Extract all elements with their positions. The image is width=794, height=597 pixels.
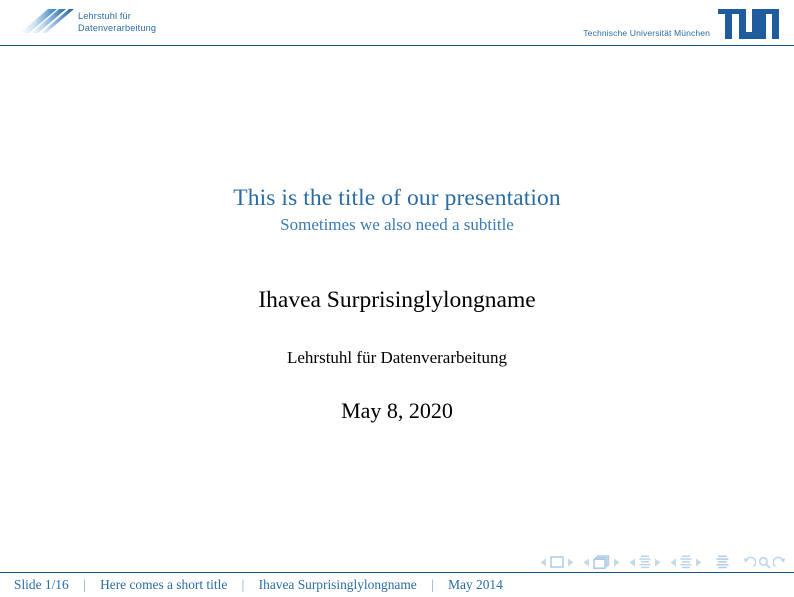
presentation-title: This is the title of our presentation	[0, 185, 794, 212]
section-prev-arrow-icon[interactable]	[670, 558, 677, 567]
ldv-chair-name-line1: Lehrstuhl für	[78, 11, 156, 23]
footer-separator-1: |	[72, 577, 97, 593]
slide-next-arrow-icon[interactable]	[567, 558, 574, 567]
footer-separator-2: |	[231, 577, 256, 593]
title-page-body: This is the title of our presentation So…	[0, 46, 794, 546]
slide-navigation-group[interactable]	[540, 556, 574, 568]
footline-content: Slide 1/16 | Here comes a short title | …	[0, 577, 503, 593]
presentation-author: Ihavea Surprisinglylongname	[0, 287, 794, 314]
beamer-navigation-symbols[interactable]	[540, 552, 786, 572]
presentation-navigation-group[interactable]	[716, 555, 729, 569]
presentation-institute: Lehrstuhl für Datenverarbeitung	[0, 348, 794, 368]
presentation-navigation-icon[interactable]	[716, 555, 729, 569]
search-magnifier-icon[interactable]	[758, 556, 771, 569]
frame-next-arrow-icon[interactable]	[613, 558, 620, 567]
ldv-chair-name: Lehrstuhl für Datenverarbeitung	[78, 11, 156, 34]
ldv-three-bars-logo-icon	[18, 7, 74, 40]
footer-short-title: Here comes a short title	[100, 577, 227, 593]
slide-footline: Slide 1/16 | Here comes a short title | …	[0, 573, 794, 597]
footer-author: Ihavea Surprisinglylongname	[259, 577, 417, 593]
section-navigation-icon[interactable]	[680, 555, 692, 569]
frame-prev-arrow-icon[interactable]	[583, 558, 590, 567]
slide-navigation-icon[interactable]	[550, 556, 564, 568]
back-arrow-icon[interactable]	[743, 556, 756, 569]
history-navigation-group[interactable]	[743, 556, 786, 569]
presentation-subtitle: Sometimes we also need a subtitle	[0, 215, 794, 235]
section-navigation-group[interactable]	[670, 555, 702, 569]
footer-date: May 2014	[448, 577, 503, 593]
frame-navigation-group[interactable]	[583, 555, 620, 569]
footer-separator-3: |	[420, 577, 445, 593]
slide-header: Lehrstuhl für Datenverarbeitung Technisc…	[0, 0, 794, 46]
section-next-arrow-icon[interactable]	[695, 558, 702, 567]
slide-prev-arrow-icon[interactable]	[540, 558, 547, 567]
beamer-slide: Lehrstuhl für Datenverarbeitung Technisc…	[0, 0, 794, 597]
subsection-prev-arrow-icon[interactable]	[629, 558, 636, 567]
ldv-chair-name-line2: Datenverarbeitung	[78, 23, 156, 35]
forward-arrow-icon[interactable]	[773, 556, 786, 569]
frame-navigation-icon[interactable]	[593, 555, 610, 569]
subsection-next-arrow-icon[interactable]	[654, 558, 661, 567]
university-name: Technische Universität München	[583, 28, 710, 38]
tum-wordmark-logo-icon	[718, 9, 780, 39]
presentation-date: May 8, 2020	[0, 398, 794, 424]
subsection-navigation-icon[interactable]	[639, 555, 651, 569]
subsection-navigation-group[interactable]	[629, 555, 661, 569]
footer-slide-counter: Slide 1/16	[14, 577, 69, 593]
